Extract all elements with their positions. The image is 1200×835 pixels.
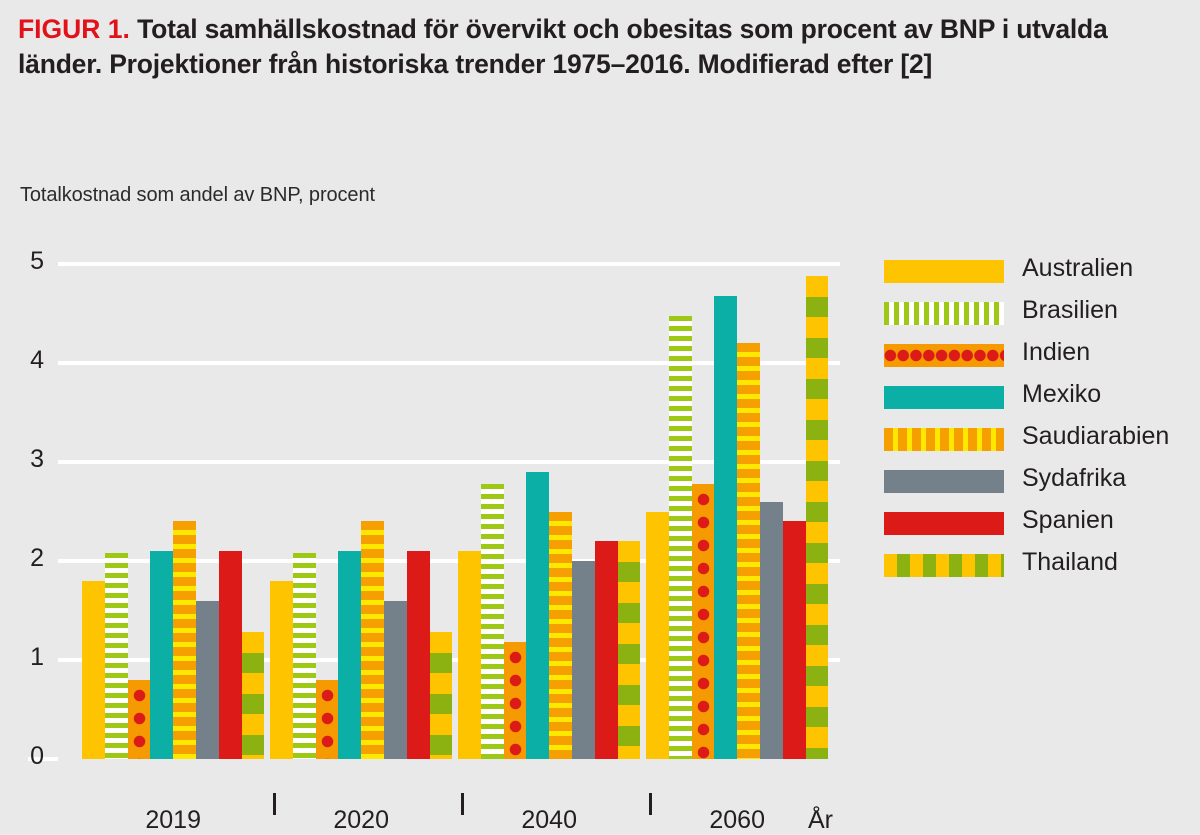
bar (150, 551, 173, 759)
bar (618, 541, 641, 759)
chart-legend: AustralienBrasilienIndienMexikoSaudiarab… (884, 256, 1194, 592)
bar (760, 502, 783, 759)
bar (82, 581, 105, 759)
legend-label: Brasilien (1022, 296, 1118, 325)
bar (430, 632, 453, 759)
x-tick-label-2020: 2020 (301, 806, 421, 835)
legend-label: Thailand (1022, 548, 1118, 577)
bar (737, 343, 760, 759)
legend-label: Sydafrika (1022, 464, 1126, 493)
legend-swatch-icon (884, 554, 1004, 577)
legend-label: Australien (1022, 254, 1133, 283)
bars-layer (0, 250, 880, 790)
figure-number: FIGUR 1. (18, 14, 130, 44)
bar (361, 521, 384, 759)
legend-swatch-icon (884, 260, 1004, 283)
bar (549, 512, 572, 760)
x-tick-label-2060: 2060 (677, 806, 797, 835)
legend-label: Saudiarabien (1022, 422, 1169, 451)
legend-label: Indien (1022, 338, 1090, 367)
legend-item-brasilien[interactable]: Brasilien (884, 298, 1194, 340)
legend-item-australien[interactable]: Australien (884, 256, 1194, 298)
x-axis-separator-tick (461, 793, 464, 815)
legend-item-spanien[interactable]: Spanien (884, 508, 1194, 550)
bar (806, 276, 829, 759)
x-tick-label-2040: 2040 (489, 806, 609, 835)
legend-item-thailand[interactable]: Thailand (884, 550, 1194, 592)
x-axis-separator-tick (273, 793, 276, 815)
bar (196, 601, 219, 759)
legend-swatch-icon (884, 512, 1004, 535)
bar (714, 296, 737, 759)
figure-caption-text: Total samhällskostnad för övervikt och o… (18, 14, 1108, 79)
legend-item-sydafrika[interactable]: Sydafrika (884, 466, 1194, 508)
bar (293, 553, 316, 759)
legend-swatch-icon (884, 428, 1004, 451)
legend-label: Mexiko (1022, 380, 1101, 409)
bar (173, 521, 196, 759)
bar (316, 680, 339, 759)
chart-plot-area: 012345 2019202020402060 År (0, 250, 880, 790)
bar (572, 561, 595, 759)
legend-swatch-icon (884, 470, 1004, 493)
bar (105, 553, 128, 759)
legend-label: Spanien (1022, 506, 1114, 535)
bar (128, 680, 151, 759)
x-axis-unit-label: År (808, 806, 833, 835)
bar (504, 642, 527, 759)
bar (595, 541, 618, 759)
bar (692, 484, 715, 759)
legend-item-mexiko[interactable]: Mexiko (884, 382, 1194, 424)
legend-swatch-icon (884, 302, 1004, 325)
bar (219, 551, 242, 759)
x-axis-separator-tick (649, 793, 652, 815)
y-axis-title: Totalkostnad som andel av BNP, procent (20, 184, 375, 207)
legend-item-saudiarabien[interactable]: Saudiarabien (884, 424, 1194, 466)
bar (242, 632, 265, 759)
bar (270, 581, 293, 759)
bar (783, 521, 806, 759)
x-tick-label-2019: 2019 (113, 806, 233, 835)
bar (526, 472, 549, 759)
legend-swatch-icon (884, 344, 1004, 367)
legend-item-indien[interactable]: Indien (884, 340, 1194, 382)
bar (481, 484, 504, 759)
legend-swatch-icon (884, 386, 1004, 409)
bar (646, 512, 669, 760)
bar (384, 601, 407, 759)
bar (407, 551, 430, 759)
figure-caption: FIGUR 1. Total samhällskostnad för överv… (18, 12, 1168, 82)
bar (338, 551, 361, 759)
bar (458, 551, 481, 759)
bar (669, 316, 692, 759)
